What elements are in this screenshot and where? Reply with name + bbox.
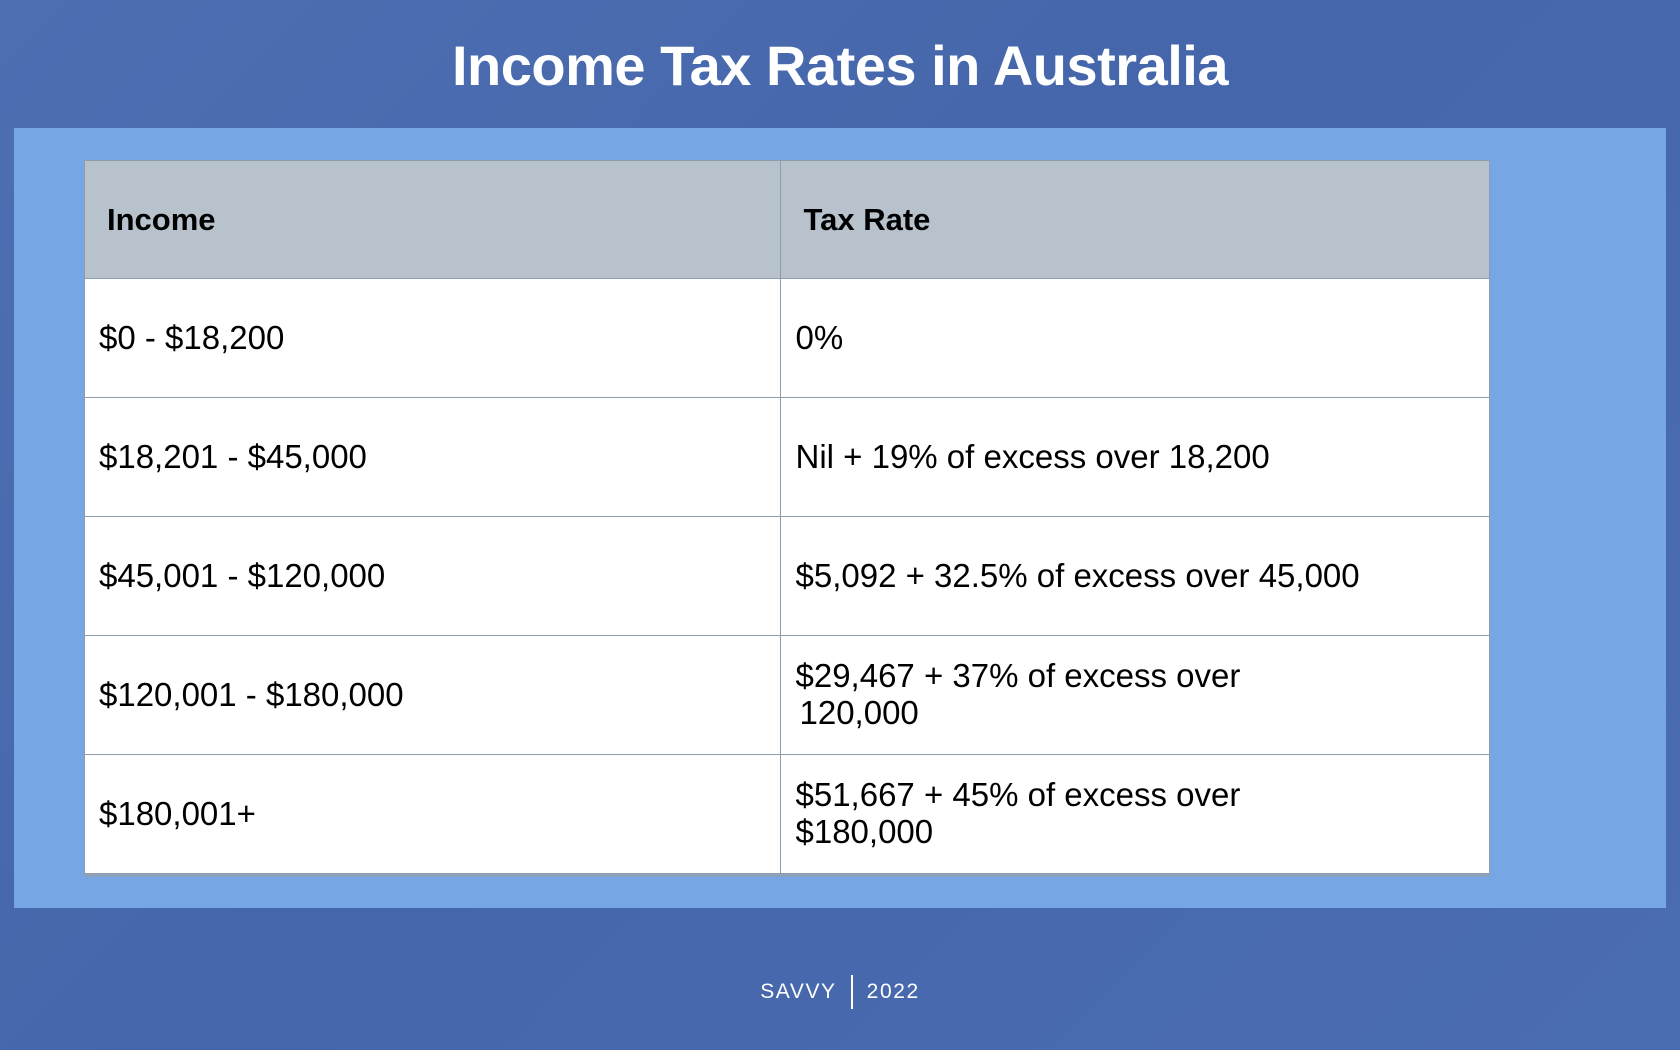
cell-income: $45,001 - $120,000 xyxy=(85,517,781,636)
footer-year-label: 2022 xyxy=(853,980,920,1004)
table-row: $0 - $18,200 0% xyxy=(85,279,1490,398)
cell-tax-rate-line1: $5,092 + 32.5% of excess over 45,000 xyxy=(795,557,1359,594)
cell-tax-rate-line2: $180,000 xyxy=(795,813,933,850)
cell-income: $0 - $18,200 xyxy=(85,279,781,398)
cell-tax-rate-line2: 120,000 xyxy=(795,694,918,731)
cell-income: $18,201 - $45,000 xyxy=(85,398,781,517)
cell-income: $120,001 - $180,000 xyxy=(85,636,781,755)
footer-bar: SAVVY 2022 xyxy=(0,908,1680,1050)
footer-brand-label: SAVVY xyxy=(760,980,850,1004)
cell-tax-rate: 0% xyxy=(781,279,1490,398)
cell-income: $180,001+ xyxy=(85,755,781,874)
table-panel: Income Tax Rate $0 - $18,200 0% $18,201 … xyxy=(14,128,1666,908)
cell-tax-rate-line1: 0% xyxy=(795,319,843,356)
page-title: Income Tax Rates in Australia xyxy=(452,38,1228,94)
income-tax-rates-table: Income Tax Rate $0 - $18,200 0% $18,201 … xyxy=(84,160,1490,874)
cell-tax-rate-line1: $51,667 + 45% of excess over xyxy=(795,776,1240,813)
table-row: $18,201 - $45,000 Nil + 19% of excess ov… xyxy=(85,398,1490,517)
footer-credit: SAVVY 2022 xyxy=(760,975,920,1009)
column-header-tax-rate: Tax Rate xyxy=(781,161,1490,279)
cell-tax-rate: $29,467 + 37% of excess over 120,000 xyxy=(781,636,1490,755)
table-row: $180,001+ $51,667 + 45% of excess over $… xyxy=(85,755,1490,874)
cell-tax-rate-line1: $29,467 + 37% of excess over xyxy=(795,657,1240,694)
cell-tax-rate: $5,092 + 32.5% of excess over 45,000 xyxy=(781,517,1490,636)
slide-canvas: Income Tax Rates in Australia Income Tax… xyxy=(0,0,1680,1050)
cell-tax-rate: Nil + 19% of excess over 18,200 xyxy=(781,398,1490,517)
table-row: $45,001 - $120,000 $5,092 + 32.5% of exc… xyxy=(85,517,1490,636)
column-header-income: Income xyxy=(85,161,781,279)
table-row: $120,001 - $180,000 $29,467 + 37% of exc… xyxy=(85,636,1490,755)
cell-tax-rate: $51,667 + 45% of excess over $180,000 xyxy=(781,755,1490,874)
title-bar: Income Tax Rates in Australia xyxy=(0,0,1680,128)
table-header-row: Income Tax Rate xyxy=(85,161,1490,279)
cell-tax-rate-line1: Nil + 19% of excess over 18,200 xyxy=(795,438,1269,475)
